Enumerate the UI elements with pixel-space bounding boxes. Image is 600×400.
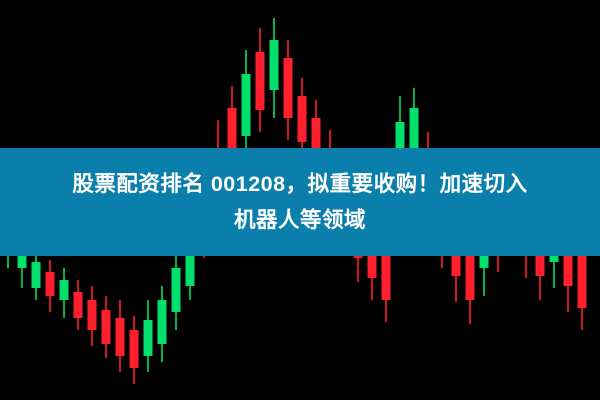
candle-body	[256, 52, 265, 110]
candle-body	[32, 262, 41, 288]
candle-body	[102, 310, 111, 344]
candle-body	[284, 58, 293, 118]
candle-body	[74, 292, 83, 318]
candle-body	[46, 272, 55, 296]
candle-body	[88, 300, 97, 330]
candle-body	[270, 40, 279, 90]
candle-body	[60, 280, 69, 300]
candle-body	[116, 318, 125, 356]
candle-body	[172, 268, 181, 312]
candle-body	[144, 320, 153, 356]
headline-text: 股票配资排名 001208，拟重要收购！加速切入 机器人等领域	[72, 166, 527, 238]
candle-body	[130, 330, 139, 368]
headline-banner: 股票配资排名 001208，拟重要收购！加速切入 机器人等领域	[0, 148, 600, 256]
candle-body	[158, 300, 167, 344]
candle-body	[578, 256, 587, 308]
candle-body	[298, 96, 307, 142]
screenshot-root: 股票配资排名 001208，拟重要收购！加速切入 机器人等领域	[0, 0, 600, 400]
candle-body	[242, 74, 251, 136]
